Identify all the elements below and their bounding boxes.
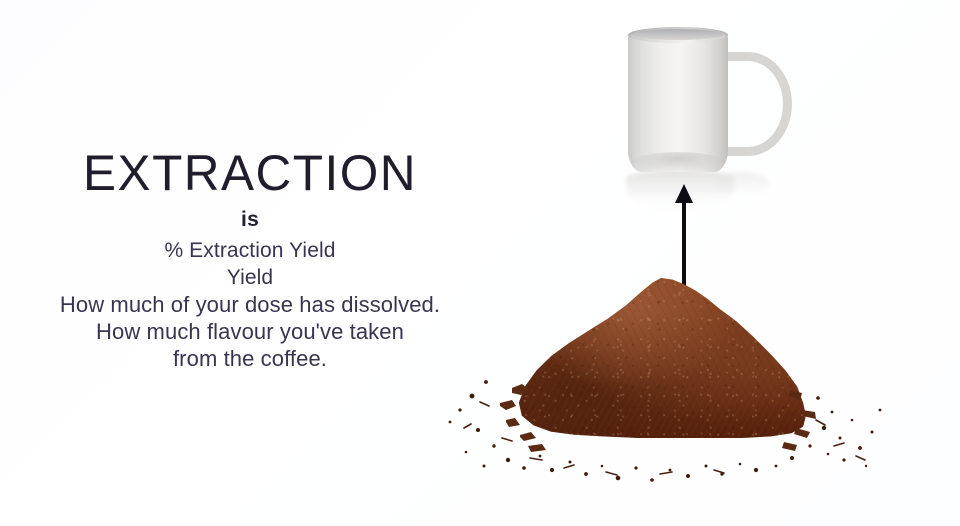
connector-word: is xyxy=(0,207,500,233)
extraction-infographic: EXTRACTION is % Extraction Yield Yield H… xyxy=(0,0,960,526)
page-title: EXTRACTION xyxy=(3,145,498,201)
mug-base-shadow xyxy=(630,152,726,174)
mug-interior xyxy=(633,29,723,40)
coffee-mug-icon xyxy=(620,24,800,214)
coffee-pile-texture xyxy=(516,278,806,438)
ground-coffee-pile-icon xyxy=(420,270,890,500)
mug-handle-reflection xyxy=(714,172,770,198)
definition-line-1: % Extraction Yield xyxy=(0,237,500,264)
